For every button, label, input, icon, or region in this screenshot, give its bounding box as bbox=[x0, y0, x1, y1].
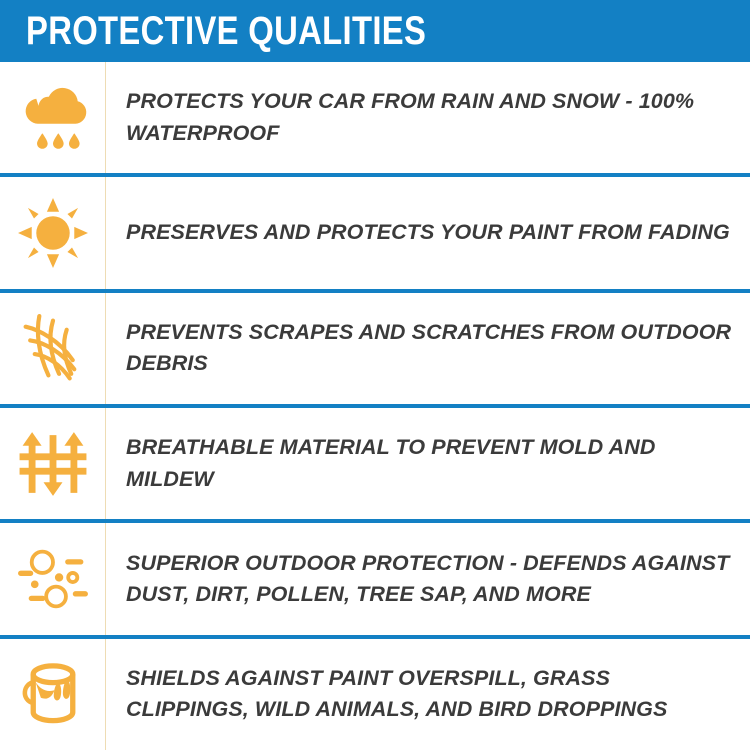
feature-row: SHIELDS AGAINST PAINT OVERSPILL, GRASS C… bbox=[0, 635, 750, 750]
icon-cell bbox=[0, 62, 106, 173]
page-title: PROTECTIVE QUALITIES bbox=[26, 11, 426, 51]
sun-icon bbox=[15, 195, 91, 271]
feature-list: PROTECTS YOUR CAR FROM RAIN AND SNOW - 1… bbox=[0, 62, 750, 750]
icon-cell bbox=[0, 639, 106, 750]
icon-cell bbox=[0, 177, 106, 288]
feature-row: SUPERIOR OUTDOOR PROTECTION - DEFENDS AG… bbox=[0, 519, 750, 634]
feature-text: PRESERVES AND PROTECTS YOUR PAINT FROM F… bbox=[126, 217, 730, 248]
feature-text: PROTECTS YOUR CAR FROM RAIN AND SNOW - 1… bbox=[126, 86, 734, 148]
text-cell: BREATHABLE MATERIAL TO PREVENT MOLD AND … bbox=[106, 408, 750, 519]
feature-text: SUPERIOR OUTDOOR PROTECTION - DEFENDS AG… bbox=[126, 548, 734, 610]
text-cell: SHIELDS AGAINST PAINT OVERSPILL, GRASS C… bbox=[106, 639, 750, 750]
header-bar: PROTECTIVE QUALITIES bbox=[0, 0, 750, 62]
scratch-mesh-icon bbox=[15, 310, 91, 386]
paint-can-icon bbox=[15, 656, 91, 732]
icon-cell bbox=[0, 408, 106, 519]
icon-cell bbox=[0, 523, 106, 634]
text-cell: SUPERIOR OUTDOOR PROTECTION - DEFENDS AG… bbox=[106, 523, 750, 634]
text-cell: PRESERVES AND PROTECTS YOUR PAINT FROM F… bbox=[106, 177, 750, 288]
feature-row: PROTECTS YOUR CAR FROM RAIN AND SNOW - 1… bbox=[0, 62, 750, 173]
protective-qualities-infographic: PROTECTIVE QUALITIES PROTECTS YOUR CAR F… bbox=[0, 0, 750, 750]
breathable-arrows-icon bbox=[15, 426, 91, 502]
feature-text: BREATHABLE MATERIAL TO PREVENT MOLD AND … bbox=[126, 432, 734, 494]
text-cell: PROTECTS YOUR CAR FROM RAIN AND SNOW - 1… bbox=[106, 62, 750, 173]
feature-row: BREATHABLE MATERIAL TO PREVENT MOLD AND … bbox=[0, 404, 750, 519]
feature-row: PRESERVES AND PROTECTS YOUR PAINT FROM F… bbox=[0, 173, 750, 288]
feature-text: PREVENTS SCRAPES AND SCRATCHES FROM OUTD… bbox=[126, 317, 734, 379]
icon-cell bbox=[0, 293, 106, 404]
feature-row: PREVENTS SCRAPES AND SCRATCHES FROM OUTD… bbox=[0, 289, 750, 404]
text-cell: PREVENTS SCRAPES AND SCRATCHES FROM OUTD… bbox=[106, 293, 750, 404]
dust-particles-icon bbox=[15, 541, 91, 617]
rain-cloud-icon bbox=[15, 80, 91, 156]
feature-text: SHIELDS AGAINST PAINT OVERSPILL, GRASS C… bbox=[126, 663, 734, 725]
